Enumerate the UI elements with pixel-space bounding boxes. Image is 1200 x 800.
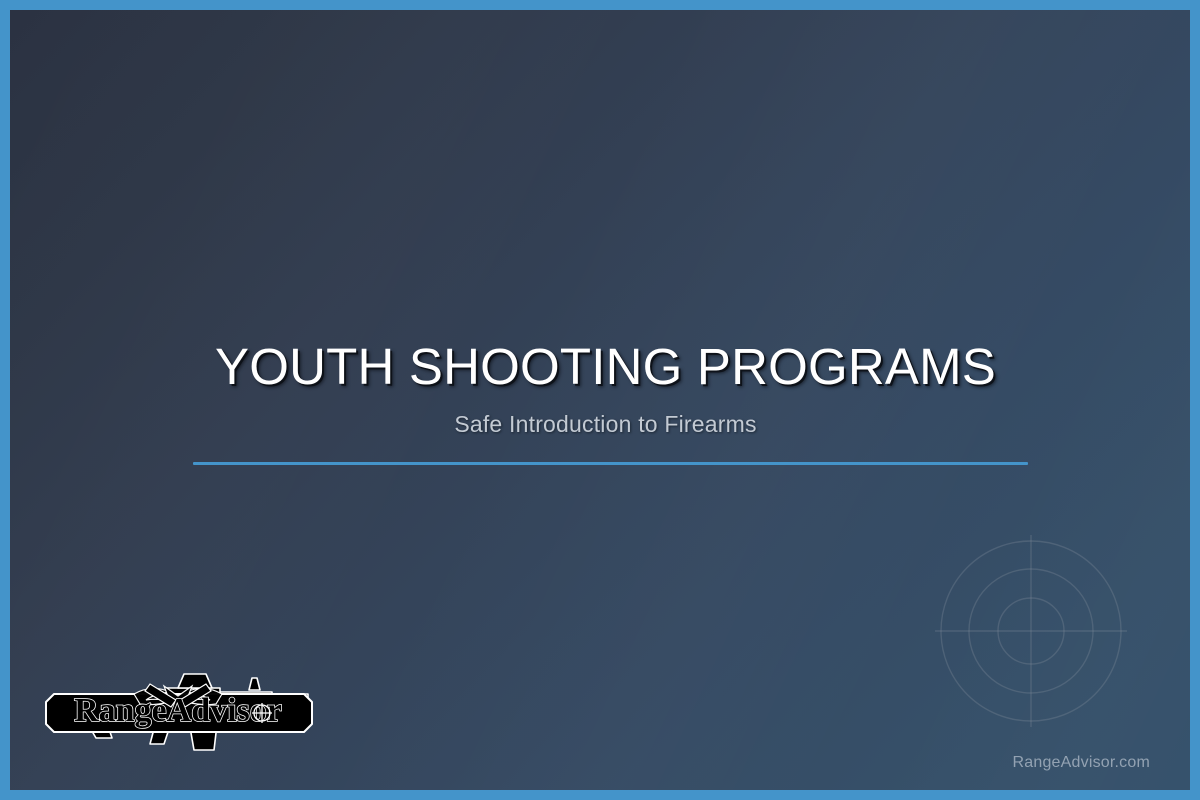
page-title: YOUTH SHOOTING PROGRAMS xyxy=(183,340,1028,393)
footer-url: RangeAdvisor.com xyxy=(1013,754,1151,772)
page-subtitle: Safe Introduction to Firearms xyxy=(183,411,1028,438)
presentation-slide: YOUTH SHOOTING PROGRAMS Safe Introductio… xyxy=(0,0,1200,800)
brand-logo[interactable]: RangeAdvisor rifle banner logo xyxy=(38,658,318,764)
title-block: YOUTH SHOOTING PROGRAMS Safe Introductio… xyxy=(183,340,1028,438)
accent-divider-rule xyxy=(193,462,1028,465)
logo-wordmark: RangeAdvisor xyxy=(74,692,282,729)
slide-canvas: YOUTH SHOOTING PROGRAMS Safe Introductio… xyxy=(10,10,1190,790)
crosshair-target-watermark xyxy=(921,521,1141,741)
